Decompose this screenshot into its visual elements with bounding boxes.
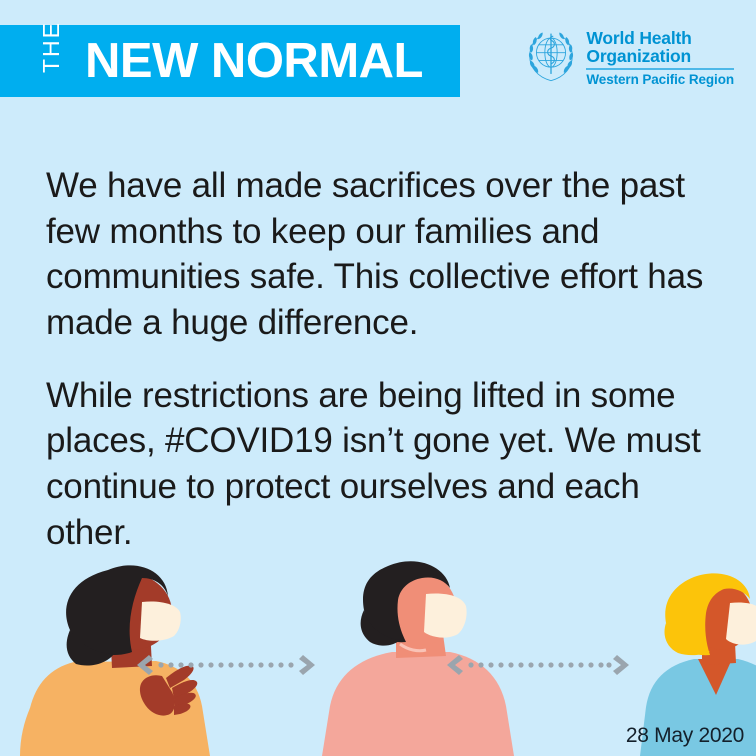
who-divider-rule xyxy=(586,68,734,70)
page-title: NEW NORMAL xyxy=(85,37,423,86)
who-region-label: Western Pacific Region xyxy=(586,72,734,87)
message-body: We have all made sacrifices over the pas… xyxy=(46,163,714,555)
distance-arrow-right xyxy=(443,652,633,678)
illustration-scene: 28 May 2020 xyxy=(0,551,756,756)
distance-arrow-left xyxy=(133,652,319,678)
who-line-2: Organization xyxy=(586,48,734,66)
who-emblem-icon xyxy=(523,28,579,84)
woman-mask xyxy=(140,601,181,640)
arrow-head-left-icon xyxy=(447,655,463,675)
title-banner: THE NEW NORMAL xyxy=(0,25,460,97)
dotted-line xyxy=(468,662,611,667)
arrow-head-left-icon xyxy=(137,655,153,675)
who-wordmark: World Health Organization Western Pacifi… xyxy=(586,28,734,87)
date-stamp: 28 May 2020 xyxy=(626,724,744,748)
paragraph-1: We have all made sacrifices over the pas… xyxy=(46,163,714,346)
dotted-line xyxy=(158,662,293,667)
poster-canvas: THE NEW NORMAL xyxy=(0,0,756,756)
who-logo: World Health Organization Western Pacifi… xyxy=(523,28,734,87)
person-mask xyxy=(726,603,756,645)
title-kicker: THE xyxy=(40,50,63,73)
man-mask xyxy=(424,594,467,638)
arrow-head-right-icon xyxy=(613,655,629,675)
paragraph-2: While restrictions are being lifted in s… xyxy=(46,373,714,556)
